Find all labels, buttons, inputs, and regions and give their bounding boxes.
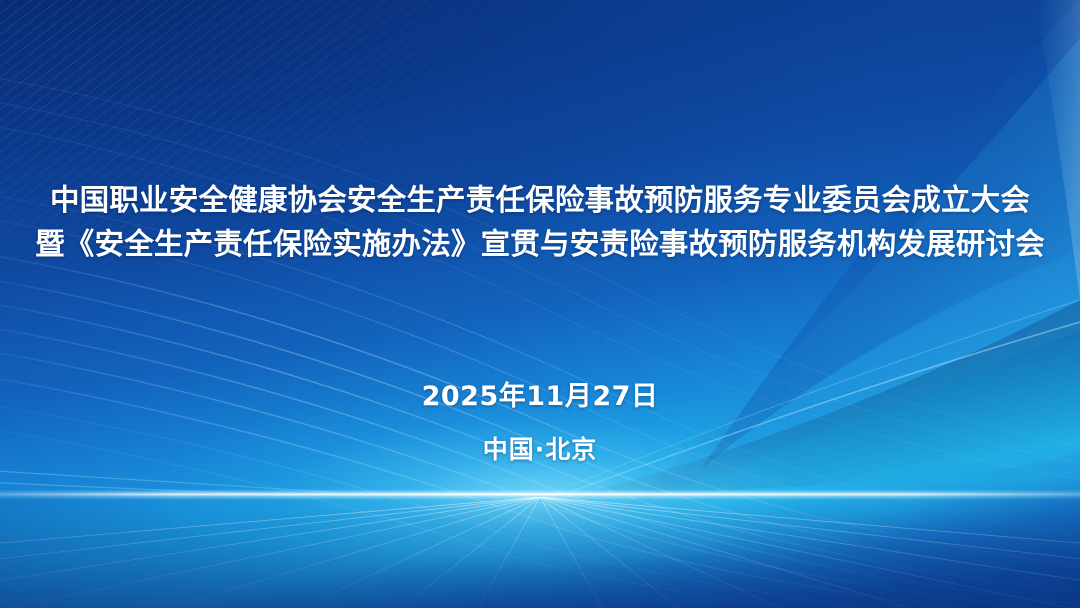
- event-title: 中国职业安全健康协会安全生产责任保险事故预防服务专业委员会成立大会 暨《安全生产…: [0, 178, 1080, 266]
- poster-content: 中国职业安全健康协会安全生产责任保险事故预防服务专业委员会成立大会 暨《安全生产…: [0, 0, 1080, 608]
- event-location: 中国·北京: [0, 432, 1080, 468]
- poster-canvas: 中国职业安全健康协会安全生产责任保险事故预防服务专业委员会成立大会 暨《安全生产…: [0, 0, 1080, 608]
- event-date: 2025年11月27日: [0, 378, 1080, 416]
- event-meta: 2025年11月27日 中国·北京: [0, 378, 1080, 468]
- event-title-line-2: 暨《安全生产责任保险实施办法》宣贯与安责险事故预防服务机构发展研讨会: [0, 222, 1080, 266]
- event-title-line-1: 中国职业安全健康协会安全生产责任保险事故预防服务专业委员会成立大会: [0, 178, 1080, 222]
